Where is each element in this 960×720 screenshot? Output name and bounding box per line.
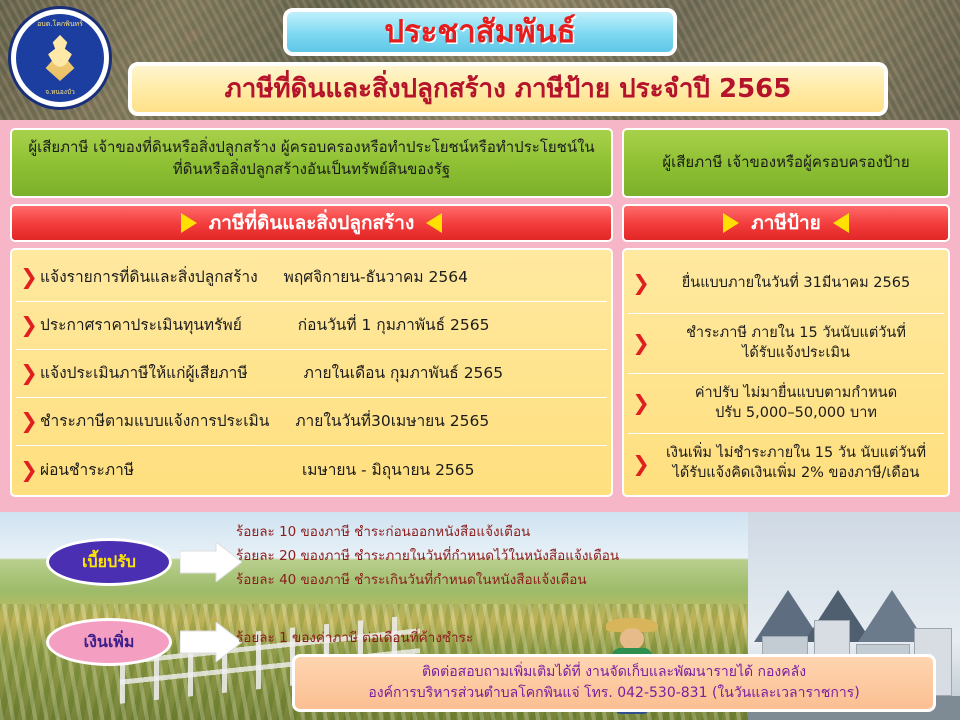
triangle-left-icon xyxy=(833,213,849,233)
logo-emblem-icon xyxy=(40,35,80,81)
logo-inner-disc: อบต.โคกพินทร์ จ.หนองบัว xyxy=(16,14,104,102)
land-tax-column: ผู้เสียภาษี เจ้าของที่ดินหรือสิ่งปลูกสร้… xyxy=(10,128,613,497)
page-subtitle: ภาษีที่ดินและสิ่งปลูกสร้าง ภาษีป้าย ประจ… xyxy=(128,62,888,116)
chevron-right-icon: ❯ xyxy=(20,460,38,481)
list-item-text: ชำระภาษีตามแบบแจ้งการประเมินภายในวันที่3… xyxy=(38,411,603,432)
list-item: ❯ ผ่อนชำระภาษีเมษายน - มิถุนายน 2565 xyxy=(16,446,607,494)
triangle-left-icon xyxy=(426,213,442,233)
land-taxpayer-note: ผู้เสียภาษี เจ้าของที่ดินหรือสิ่งปลูกสร้… xyxy=(10,128,613,198)
contact-box: ติดต่อสอบถามเพิ่มเติมได้ที่ งานจัดเก็บแล… xyxy=(292,654,936,712)
penalty-note: ร้อยละ 1 ของค่าภาษี ต่อเดือนที่ค้างชำระ xyxy=(236,626,473,648)
contact-line-1: ติดต่อสอบถามเพิ่มเติมได้ที่ งานจัดเก็บแล… xyxy=(422,662,806,683)
chevron-right-icon: ❯ xyxy=(20,363,38,384)
list-item: ❯ ยื่นแบบภายในวันที่ 31มีนาคม 2565 xyxy=(628,254,944,314)
list-item-text: ค่าปรับ ไม่มายื่นแบบตามกำหนดปรับ 5,000–5… xyxy=(650,384,940,423)
contact-line-2: องค์การบริหารส่วนตำบลโคกพินแจ่ โทร. 042-… xyxy=(368,683,859,704)
triangle-right-icon xyxy=(181,213,197,233)
list-item-text: ผ่อนชำระภาษีเมษายน - มิถุนายน 2565 xyxy=(38,460,603,481)
list-item: ❯ ค่าปรับ ไม่มายื่นแบบตามกำหนดปรับ 5,000… xyxy=(628,374,944,434)
chevron-right-icon: ❯ xyxy=(632,454,650,475)
arrow-right-icon xyxy=(180,622,242,662)
penalty-note: ร้อยละ 10 ของภาษี ชำระก่อนออกหนังสือแจ้ง… xyxy=(236,520,530,542)
penalty-note: ร้อยละ 20 ของภาษี ชำระภายในวันที่กำหนดไว… xyxy=(236,544,619,566)
signboard-tax-section-title: ภาษีป้าย xyxy=(751,208,821,238)
organization-logo: อบต.โคกพินทร์ จ.หนองบัว xyxy=(8,6,112,110)
list-item-text: แจ้งประเมินภาษีให้แก่ผู้เสียภาษีภายในเดื… xyxy=(38,363,603,384)
list-item: ❯ ประกาศราคาประเมินทุนทรัพย์ก่อนวันที่ 1… xyxy=(16,302,607,350)
list-item: ❯ แจ้งประเมินภาษีให้แก่ผู้เสียภาษีภายในเ… xyxy=(16,350,607,398)
chevron-right-icon: ❯ xyxy=(632,273,650,294)
signboard-tax-column: ผู้เสียภาษี เจ้าของหรือผู้ครอบครองป้าย ภ… xyxy=(622,128,950,497)
body-area: ผู้เสียภาษี เจ้าของที่ดินหรือสิ่งปลูกสร้… xyxy=(0,120,960,720)
land-tax-section-header: ภาษีที่ดินและสิ่งปลูกสร้าง xyxy=(10,204,613,242)
chevron-right-icon: ❯ xyxy=(632,393,650,414)
land-tax-section-title: ภาษีที่ดินและสิ่งปลูกสร้าง xyxy=(209,208,415,238)
farmer-head-icon xyxy=(620,628,644,650)
list-item: ❯ แจ้งรายการที่ดินและสิ่งปลูกสร้างพฤศจิก… xyxy=(16,254,607,302)
signboard-taxpayer-note: ผู้เสียภาษี เจ้าของหรือผู้ครอบครองป้าย xyxy=(622,128,950,198)
penalty-surcharge-badge: เงินเพิ่ม xyxy=(46,618,172,666)
penalty-fine-badge: เบี้ยปรับ xyxy=(46,538,172,586)
banner-title-text: ประชาสัมพันธ์ xyxy=(384,17,575,48)
triangle-right-icon xyxy=(723,213,739,233)
banner-title: ประชาสัมพันธ์ xyxy=(283,8,677,56)
logo-bottom-text: จ.หนองบัว xyxy=(16,87,104,97)
land-tax-schedule-list: ❯ แจ้งรายการที่ดินและสิ่งปลูกสร้างพฤศจิก… xyxy=(10,248,613,497)
list-item-text: ชำระภาษี ภายใน 15 วันนับแต่วันที่ได้รับแ… xyxy=(650,324,940,363)
logo-top-text: อบต.โคกพินทร์ xyxy=(16,19,104,30)
list-item: ❯ ชำระภาษีตามแบบแจ้งการประเมินภายในวันที… xyxy=(16,398,607,446)
list-item-text: ประกาศราคาประเมินทุนทรัพย์ก่อนวันที่ 1 ก… xyxy=(38,315,603,336)
list-item: ❯ ชำระภาษี ภายใน 15 วันนับแต่วันที่ได้รั… xyxy=(628,314,944,374)
signboard-tax-section-header: ภาษีป้าย xyxy=(622,204,950,242)
chevron-right-icon: ❯ xyxy=(20,267,38,288)
list-item-text: แจ้งรายการที่ดินและสิ่งปลูกสร้างพฤศจิกาย… xyxy=(38,267,603,288)
poster-page: อบต.โคกพินทร์ จ.หนองบัว ประชาสัมพันธ์ ภา… xyxy=(0,0,960,720)
list-item: ❯ เงินเพิ่ม ไม่ชำระภายใน 15 วัน นับแต่วั… xyxy=(628,434,944,494)
signboard-tax-schedule-list: ❯ ยื่นแบบภายในวันที่ 31มีนาคม 2565 ❯ ชำร… xyxy=(622,248,950,497)
arrow-right-icon xyxy=(180,542,242,582)
penalty-note: ร้อยละ 40 ของภาษี ชำระเกินวันที่กำหนดในห… xyxy=(236,568,587,590)
chevron-right-icon: ❯ xyxy=(20,411,38,432)
page-subtitle-text: ภาษีที่ดินและสิ่งปลูกสร้าง ภาษีป้าย ประจ… xyxy=(225,76,792,102)
chevron-right-icon: ❯ xyxy=(632,333,650,354)
list-item-text: เงินเพิ่ม ไม่ชำระภายใน 15 วัน นับแต่วันท… xyxy=(650,444,940,483)
chevron-right-icon: ❯ xyxy=(20,315,38,336)
list-item-text: ยื่นแบบภายในวันที่ 31มีนาคม 2565 xyxy=(650,274,940,294)
